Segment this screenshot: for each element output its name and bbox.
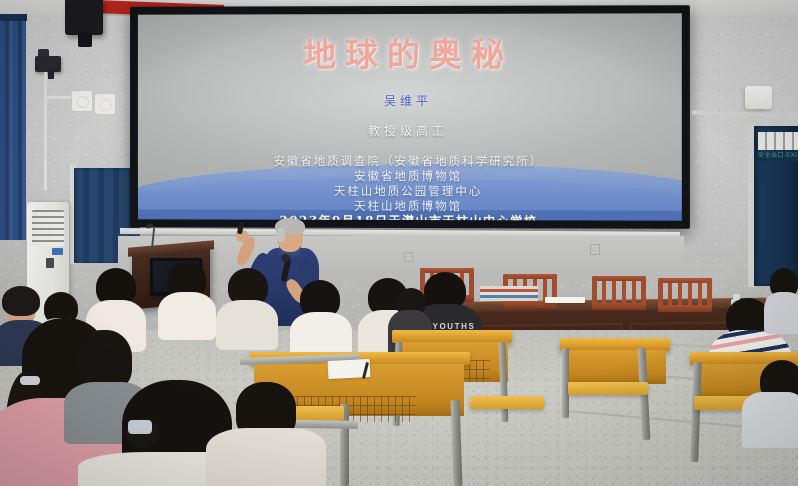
wall-plate-right[interactable] [94,93,116,115]
slide-org-line: 天柱山地质博物馆 [138,198,682,214]
wall-plate-left[interactable] [71,90,93,112]
window-curtain-left [0,18,26,240]
slide-org-line: 安徽省地质博物馆 [138,169,682,185]
student-hair [2,286,40,316]
classroom-photo: 地球的奥秘 吴维平 教授级高工 安徽省地质调查院（安徽省地质科学研究所） 安徽省… [0,0,798,486]
wall-conduit-horizontal [44,96,72,99]
ac-display-panel[interactable] [46,258,54,268]
student-torso [158,292,216,340]
wall-conduit [44,72,47,190]
chair[interactable] [592,276,646,310]
wall-socket-2[interactable] [404,252,413,262]
slide-author: 吴维平 [138,92,682,109]
bench-seat[interactable] [568,382,648,395]
slide-org-line: 天柱山地质公园管理中心 [138,184,682,200]
slide-date-line: 2023年9月18日于潜山市天柱山中心学校 [138,213,682,220]
student-torso [742,392,798,448]
microphone-head-icon [281,254,290,262]
wall-speaker-icon [745,86,772,109]
chair[interactable] [658,278,712,312]
ac-brand-label [52,248,63,255]
hair-clip [128,420,152,434]
speaker-mount [78,33,92,47]
student-torso [216,300,278,350]
slide-organizations: 安徽省地质调查院（安徽省地质科学研究所） 安徽省地质博物馆 天柱山地质公园管理中… [138,154,682,221]
counter-papers [545,297,585,303]
exit-sign: 安全出口 EXIT [758,152,798,161]
slide-title: 地球的奥秘 [138,27,682,76]
presenter-hair-side [276,228,285,242]
door-window [758,132,798,150]
camera-arm [48,69,54,79]
bench-seat[interactable] [470,396,544,409]
right-door[interactable] [754,126,798,286]
curtain-rail [0,14,27,21]
hair-tie [20,376,40,385]
student-torso [206,428,326,486]
projection-screen: 地球的奥秘 吴维平 教授级高工 安徽省地质调查院（安徽省地质科学研究所） 安徽省… [138,13,682,220]
slide-author-rank: 教授级高工 [138,122,682,139]
student-hair [76,330,132,390]
wall-socket-1[interactable] [590,244,600,255]
book-stack [480,286,538,302]
projection-screen-frame: 地球的奥秘 吴维平 教授级高工 安徽省地质调查院（安徽省地质科学研究所） 安徽省… [130,5,690,229]
ac-vent-grille [32,210,64,246]
ceiling-speaker-icon [65,0,103,35]
student-torso [764,292,798,334]
slide-org-line: 安徽省地质调查院（安徽省地质科学研究所） [138,154,682,170]
